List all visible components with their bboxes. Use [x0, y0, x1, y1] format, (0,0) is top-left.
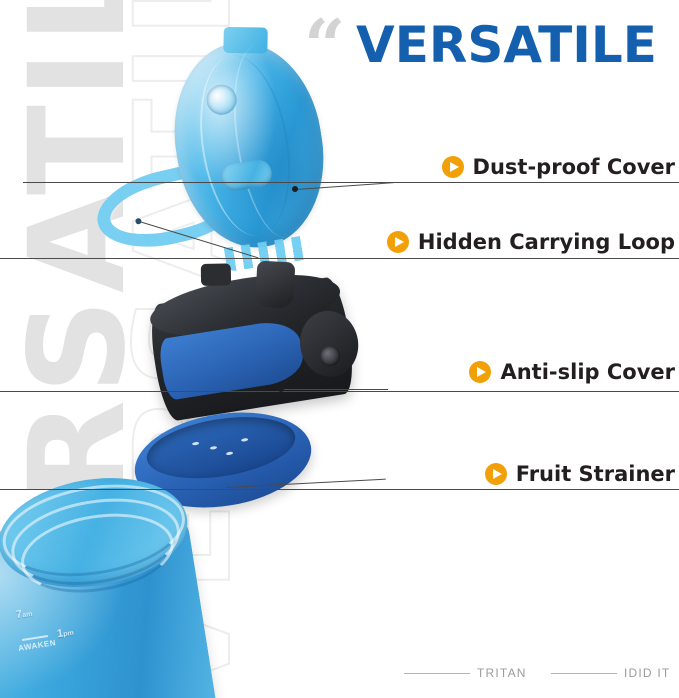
feature-dust-proof-cover[interactable]: Dust-proof Cover [442, 147, 675, 187]
feature-anti-slip-cover[interactable]: Anti-slip Cover [469, 352, 675, 392]
strainer-hole [210, 446, 217, 450]
cover-rib-left [189, 49, 302, 241]
feature-label: Hidden Carrying Loop [418, 230, 675, 254]
bottle-marking-afternoon: 1pm [56, 626, 74, 640]
feature-label: Dust-proof Cover [473, 155, 675, 179]
footer-dash [551, 673, 617, 674]
feature-rule-dust-proof-cover [23, 182, 679, 183]
feature-hidden-carrying-loop[interactable]: Hidden Carrying Loop [387, 222, 675, 262]
leader-line-hidden-carrying-loop [136, 220, 259, 258]
cap-spout [255, 261, 295, 309]
feature-rule-fruit-strainer [0, 489, 679, 490]
feature-rule-anti-slip-cover [0, 391, 679, 392]
feature-label: Fruit Strainer [516, 462, 675, 486]
cover-boss [204, 83, 238, 117]
footer-label: TRITAN [477, 666, 527, 680]
cap-hinge [295, 307, 363, 381]
product-part-fruit-strainer [128, 401, 318, 520]
feature-label: Anti-slip Cover [500, 360, 675, 384]
watermark-layer: VERSATILE VERSATILE [0, 0, 360, 698]
watermark-outline: VERSATILE [118, 0, 250, 698]
product-part-carrying-loop [90, 155, 249, 260]
leader-line-anti-slip-cover [282, 389, 388, 390]
cap-release-button [319, 345, 342, 368]
cap-top-surface [146, 264, 344, 348]
footer-dash [404, 673, 470, 674]
watermark-solid: VERSATILE [12, 0, 144, 698]
bottle-marking-morning: 7am [15, 607, 33, 621]
play-circle-icon [485, 463, 507, 485]
strainer-hole [225, 451, 232, 455]
page-title: VERSATILE [356, 20, 657, 70]
bottle-neck [0, 466, 195, 600]
leader-dot-anti-slip-cover [278, 386, 284, 392]
feature-fruit-strainer[interactable]: Fruit Strainer [485, 454, 675, 494]
strainer-basin [143, 407, 300, 487]
cover-teeth [224, 234, 311, 271]
strainer-hole [191, 442, 198, 446]
cover-latch [220, 158, 274, 192]
leader-dot-dust-proof-cover [292, 186, 298, 192]
cover-nub [224, 26, 268, 53]
footer-label: IDID IT [624, 666, 670, 680]
play-circle-icon [469, 361, 491, 383]
product-infographic: VERSATILE VERSATILE [0, 0, 679, 698]
quote-mark-icon: “ [304, 10, 345, 82]
footer-item-tritan: TRITAN [404, 666, 527, 680]
product-part-bottle-body [0, 502, 220, 698]
play-circle-icon [442, 156, 464, 178]
bottle-thread [6, 488, 186, 596]
strainer-hole [241, 437, 248, 441]
play-circle-icon [387, 231, 409, 253]
leader-line-fruit-strainer [226, 479, 386, 488]
leader-line-dust-proof-cover [296, 182, 394, 190]
cap-tab [201, 264, 231, 287]
product-part-anti-slip-cover [146, 275, 358, 422]
footer-item-idid-it: IDID IT [551, 666, 670, 680]
feature-rule-hidden-carrying-loop [0, 258, 679, 259]
bottle-thread [15, 504, 179, 603]
